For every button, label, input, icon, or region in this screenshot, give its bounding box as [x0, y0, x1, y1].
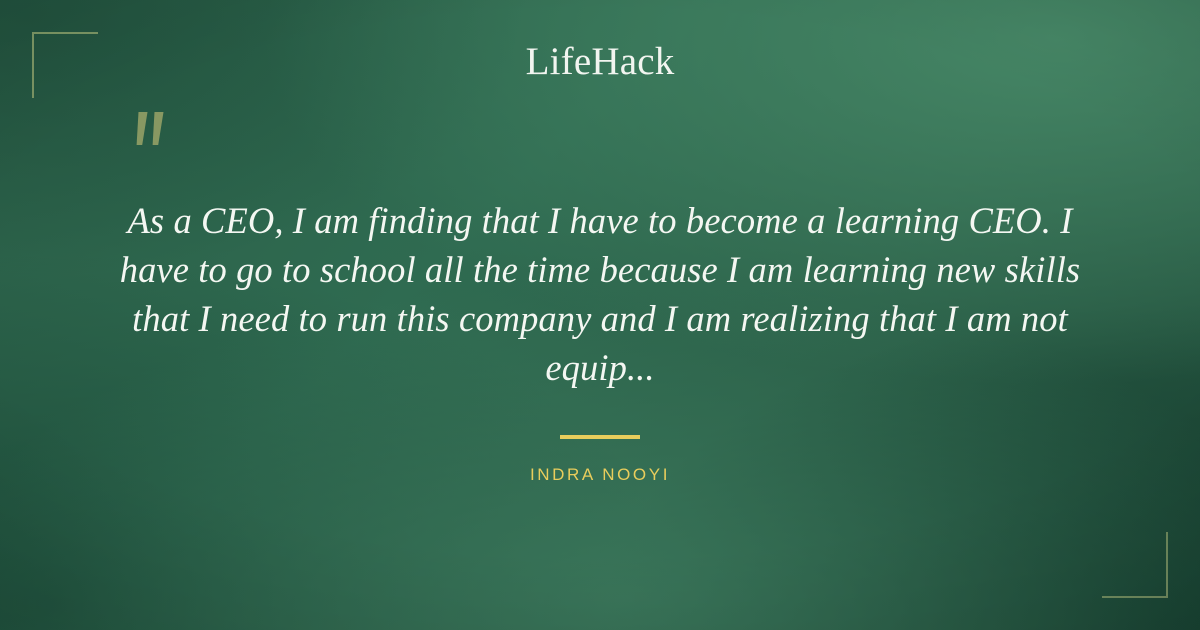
quote-body: As a CEO, I am finding that I have to be… — [108, 196, 1092, 392]
quote-card: LifeHack As a CEO, I am finding that I h… — [0, 0, 1200, 630]
brand-logo: LifeHack — [0, 40, 1200, 84]
quote-mark-icon — [128, 99, 188, 161]
quote-author: INDRA NOOYI — [0, 465, 1200, 485]
divider-rule — [560, 435, 640, 439]
corner-bracket-bottom-right-icon — [1102, 532, 1168, 598]
